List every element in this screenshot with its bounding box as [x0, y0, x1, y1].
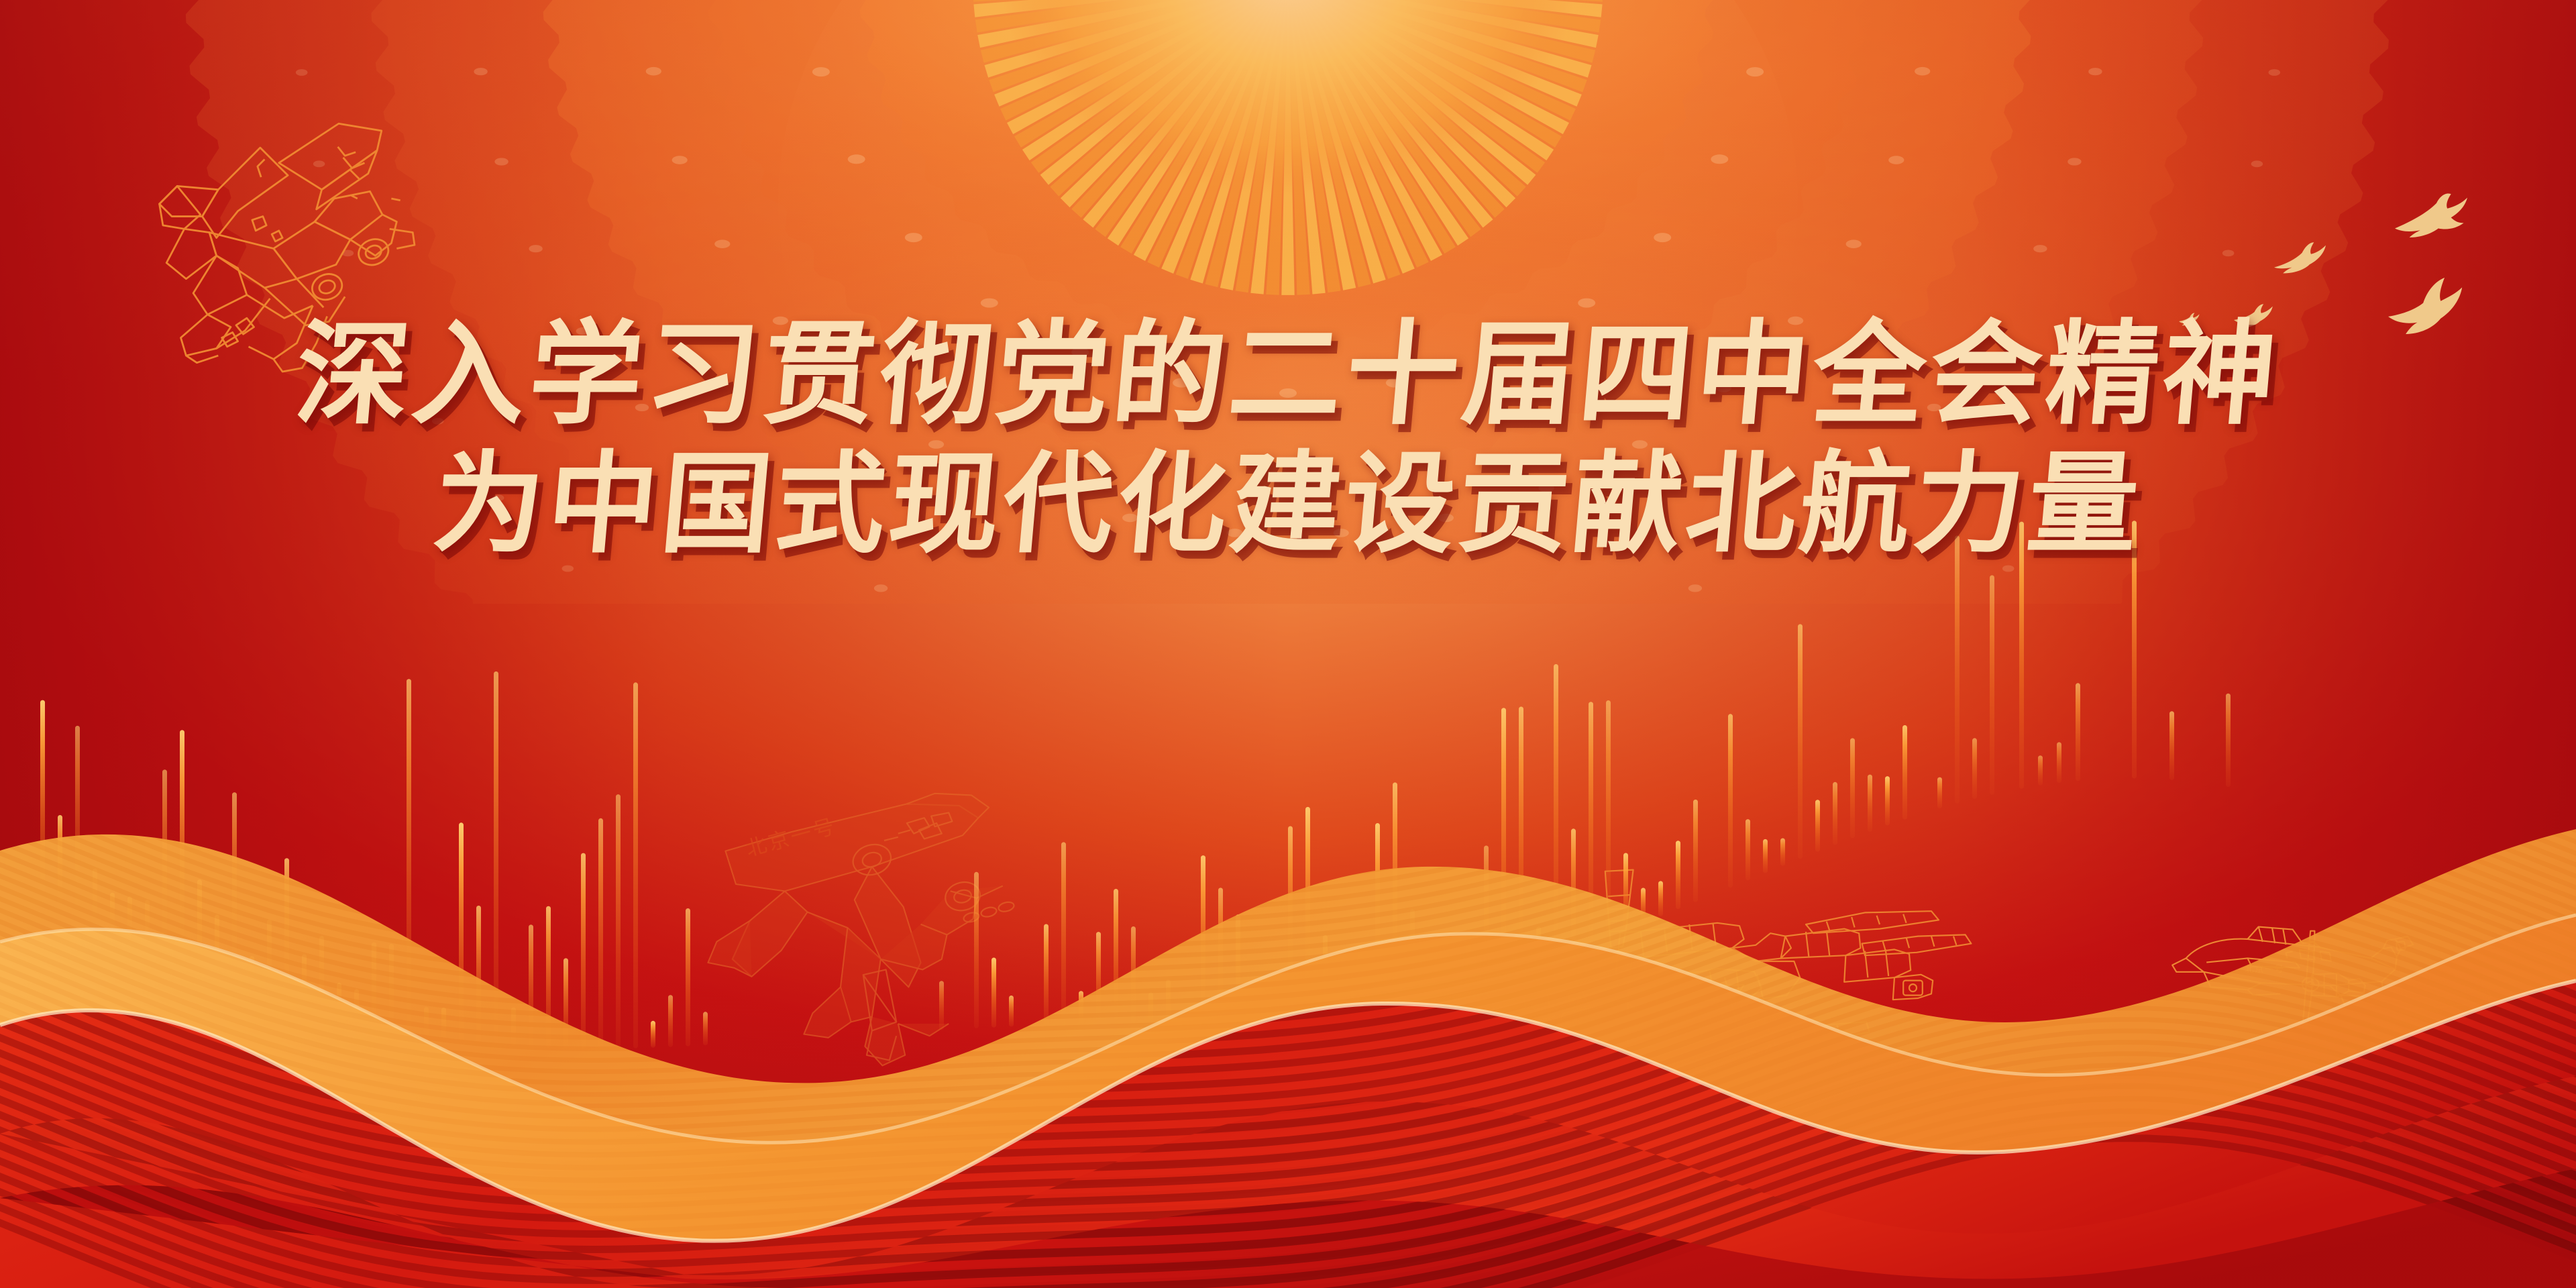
flowing-wave-bands	[0, 0, 2576, 1288]
poster-canvas: 北京一号	[0, 0, 2576, 1288]
